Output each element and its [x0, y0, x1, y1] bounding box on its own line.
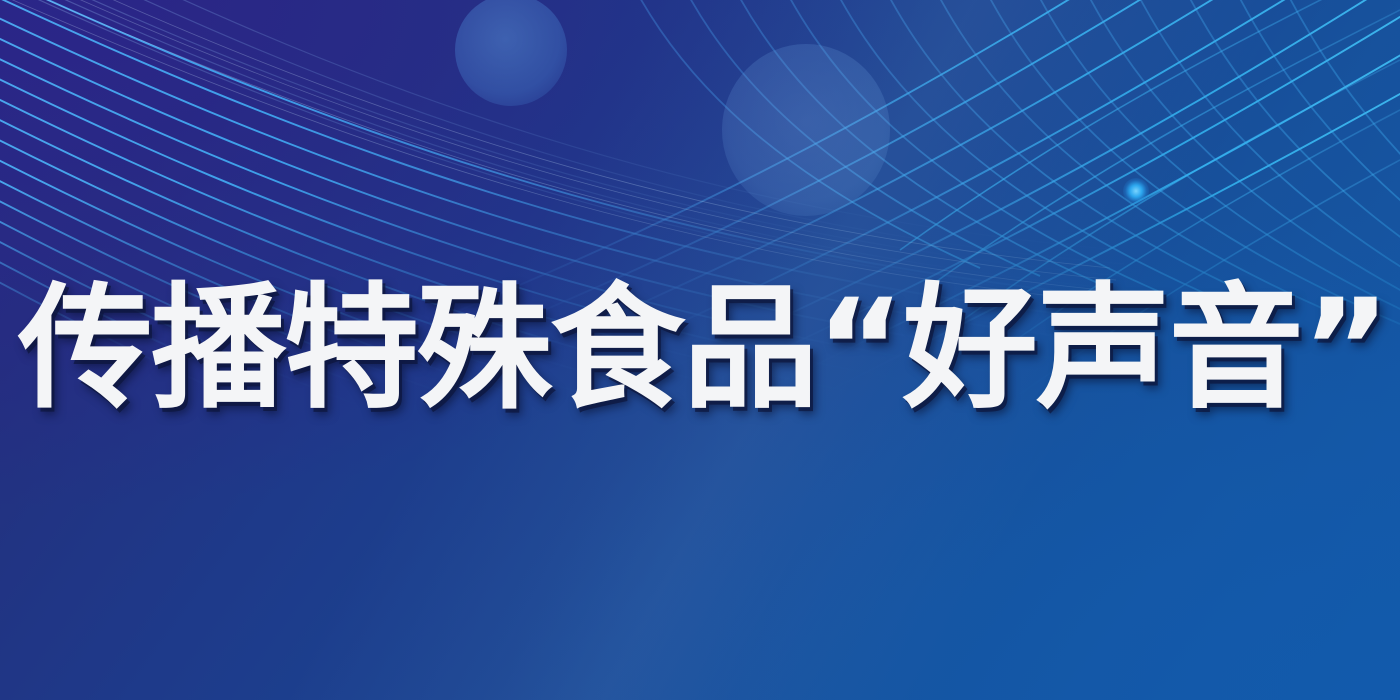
banner-headline: 传播特殊食品“好声音”	[18, 281, 1388, 416]
decor-circle-left	[455, 0, 567, 106]
promo-banner: 传播特殊食品“好声音”	[0, 0, 1400, 700]
decor-circle-right	[722, 44, 890, 216]
accent-glow-dot	[1123, 178, 1149, 204]
headline-container: 传播特殊食品“好声音”	[0, 268, 1400, 428]
